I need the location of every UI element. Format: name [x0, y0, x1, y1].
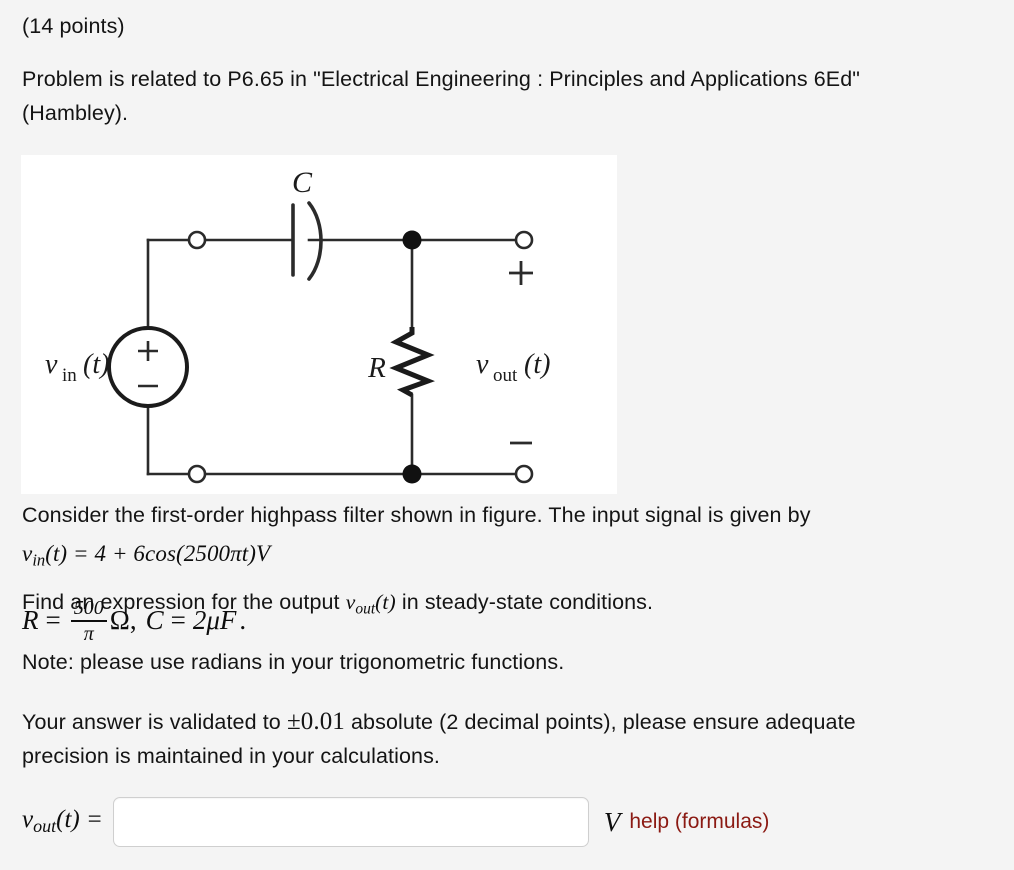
voltage-source-symbol	[109, 328, 187, 406]
radians-note: Note: please use radians in your trigono…	[22, 645, 564, 679]
validation-line-1-b: absolute (2 decimal points), please ensu…	[345, 710, 856, 734]
answer-label: vout(t) =	[22, 806, 103, 837]
problem-page: (14 points) Problem is related to P6.65 …	[0, 0, 1014, 870]
tolerance-value: ±0.01	[287, 708, 345, 735]
validation-line-2: precision is maintained in your calculat…	[22, 739, 1002, 773]
points-label: (14 points)	[22, 9, 125, 43]
terminal-open-bottom-right	[516, 466, 532, 482]
terminal-open-bottom-left	[189, 466, 205, 482]
ohm-unit: Ω	[110, 605, 130, 636]
equation-vin: vin(t) = 4 + 6cos(2500πt)V	[22, 537, 997, 578]
help-formulas-link[interactable]: help (formulas)	[629, 810, 769, 834]
prose-line-2-v: v	[346, 590, 356, 614]
answer-label-rest: (t) =	[56, 806, 103, 833]
rc-period: .	[239, 605, 246, 636]
eq-vin-rest: (t) = 4 + 6cos(2500πt)V	[45, 541, 270, 566]
capacitor-label: C	[292, 166, 313, 199]
r-fraction: 500 π	[71, 598, 107, 644]
intro-line-2: (Hambley).	[22, 96, 997, 130]
terminal-open-top-right	[516, 232, 532, 248]
junction-node-top	[403, 231, 422, 250]
answer-label-v: v	[22, 806, 33, 833]
c-symbol: C	[146, 605, 164, 636]
output-label-sub: out	[493, 365, 518, 386]
validation-line-1-a: Your answer is validated to	[22, 710, 287, 734]
validation-line-1: Your answer is validated to ±0.01 absolu…	[22, 705, 1002, 739]
output-label-v: v	[476, 349, 489, 380]
terminal-open-top-left	[189, 232, 205, 248]
r-fraction-denominator: π	[81, 622, 97, 644]
unit-label: V	[604, 807, 621, 838]
intro-line-1: Problem is related to P6.65 in "Electric…	[22, 62, 997, 96]
source-label: v in (t)	[45, 349, 109, 386]
r-fraction-numerator: 500	[71, 598, 107, 620]
output-label: v out (t)	[476, 349, 550, 386]
junction-node-bottom	[403, 465, 422, 484]
rc-values-line: R = 500 π Ω , C = 2μF .	[22, 594, 246, 646]
problem-intro: Problem is related to P6.65 in "Electric…	[22, 62, 997, 130]
circuit-figure: C R v in (t) v out (t)	[21, 155, 617, 494]
output-label-suffix: (t)	[524, 349, 550, 380]
resistor-label: R	[367, 352, 386, 384]
rc-comma: ,	[130, 605, 137, 636]
prose-line-2-b: in steady-state conditions.	[396, 590, 653, 614]
source-label-suffix: (t)	[83, 349, 109, 380]
prose-line-2-sub: out	[355, 600, 375, 617]
eq-vin-sub: in	[32, 551, 45, 570]
prose-line-1: Consider the first-order highpass filter…	[22, 498, 997, 532]
answer-input[interactable]	[113, 797, 589, 847]
c-value: 2μF	[193, 605, 237, 636]
circuit-diagram-svg: C R v in (t) v out (t)	[21, 155, 617, 494]
source-label-sub: in	[62, 365, 77, 386]
r-symbol: R	[22, 605, 39, 636]
answer-label-sub: out	[33, 817, 56, 837]
resistor-symbol	[396, 327, 428, 395]
c-equals: =	[171, 605, 186, 636]
source-label-v: v	[45, 349, 58, 380]
eq-vin-v: v	[22, 541, 32, 566]
prose-line-2-paren: (t)	[375, 590, 396, 614]
output-plus-icon	[509, 261, 533, 285]
validation-note: Your answer is validated to ±0.01 absolu…	[22, 705, 1002, 773]
answer-row: vout(t) = V help (formulas)	[22, 793, 769, 851]
r-equals: =	[46, 605, 61, 636]
